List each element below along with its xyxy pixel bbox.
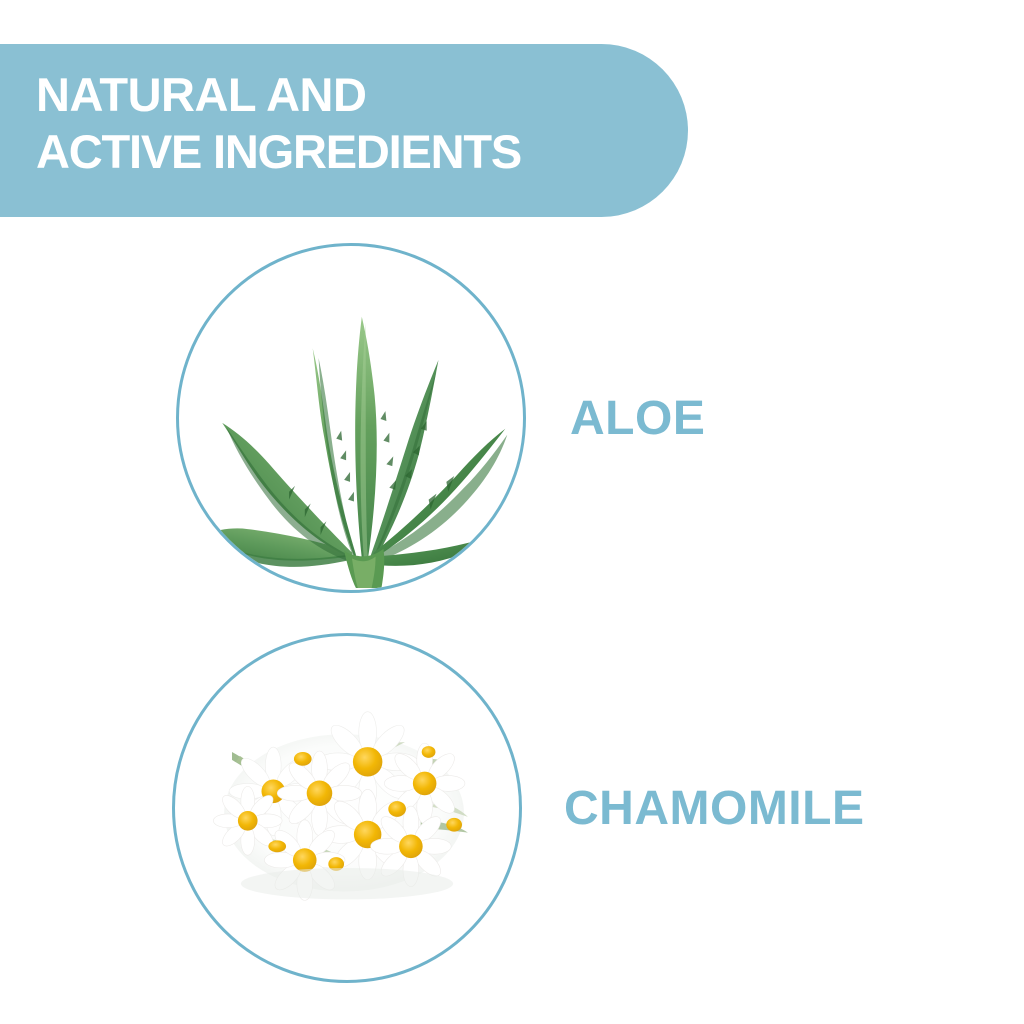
chamomile-center-small-2 [388, 801, 406, 817]
chamomile-center-small-6 [422, 746, 436, 758]
chamomile-center-small-5 [446, 818, 462, 832]
chamomile-shadow [241, 868, 453, 899]
ingredients-infographic: NATURAL AND ACTIVE INGREDIENTS [0, 0, 1024, 1024]
chamomile-center-small-4 [268, 840, 286, 852]
header-title-line-1: NATURAL AND [36, 66, 688, 123]
ingredient-row-aloe: ALOE [176, 243, 705, 593]
header-banner: NATURAL AND ACTIVE INGREDIENTS [0, 44, 688, 217]
chamomile-circle-frame [172, 633, 522, 983]
chamomile-center-small-1 [294, 752, 312, 766]
aloe-plant-icon [179, 246, 523, 590]
header-title-line-2: ACTIVE INGREDIENTS [36, 123, 688, 180]
chamomile-flowers-icon [175, 636, 519, 980]
ingredient-row-chamomile: CHAMOMILE [172, 633, 864, 983]
aloe-circle-frame [176, 243, 526, 593]
ingredient-label-aloe: ALOE [570, 391, 705, 446]
ingredient-label-chamomile: CHAMOMILE [564, 781, 864, 836]
